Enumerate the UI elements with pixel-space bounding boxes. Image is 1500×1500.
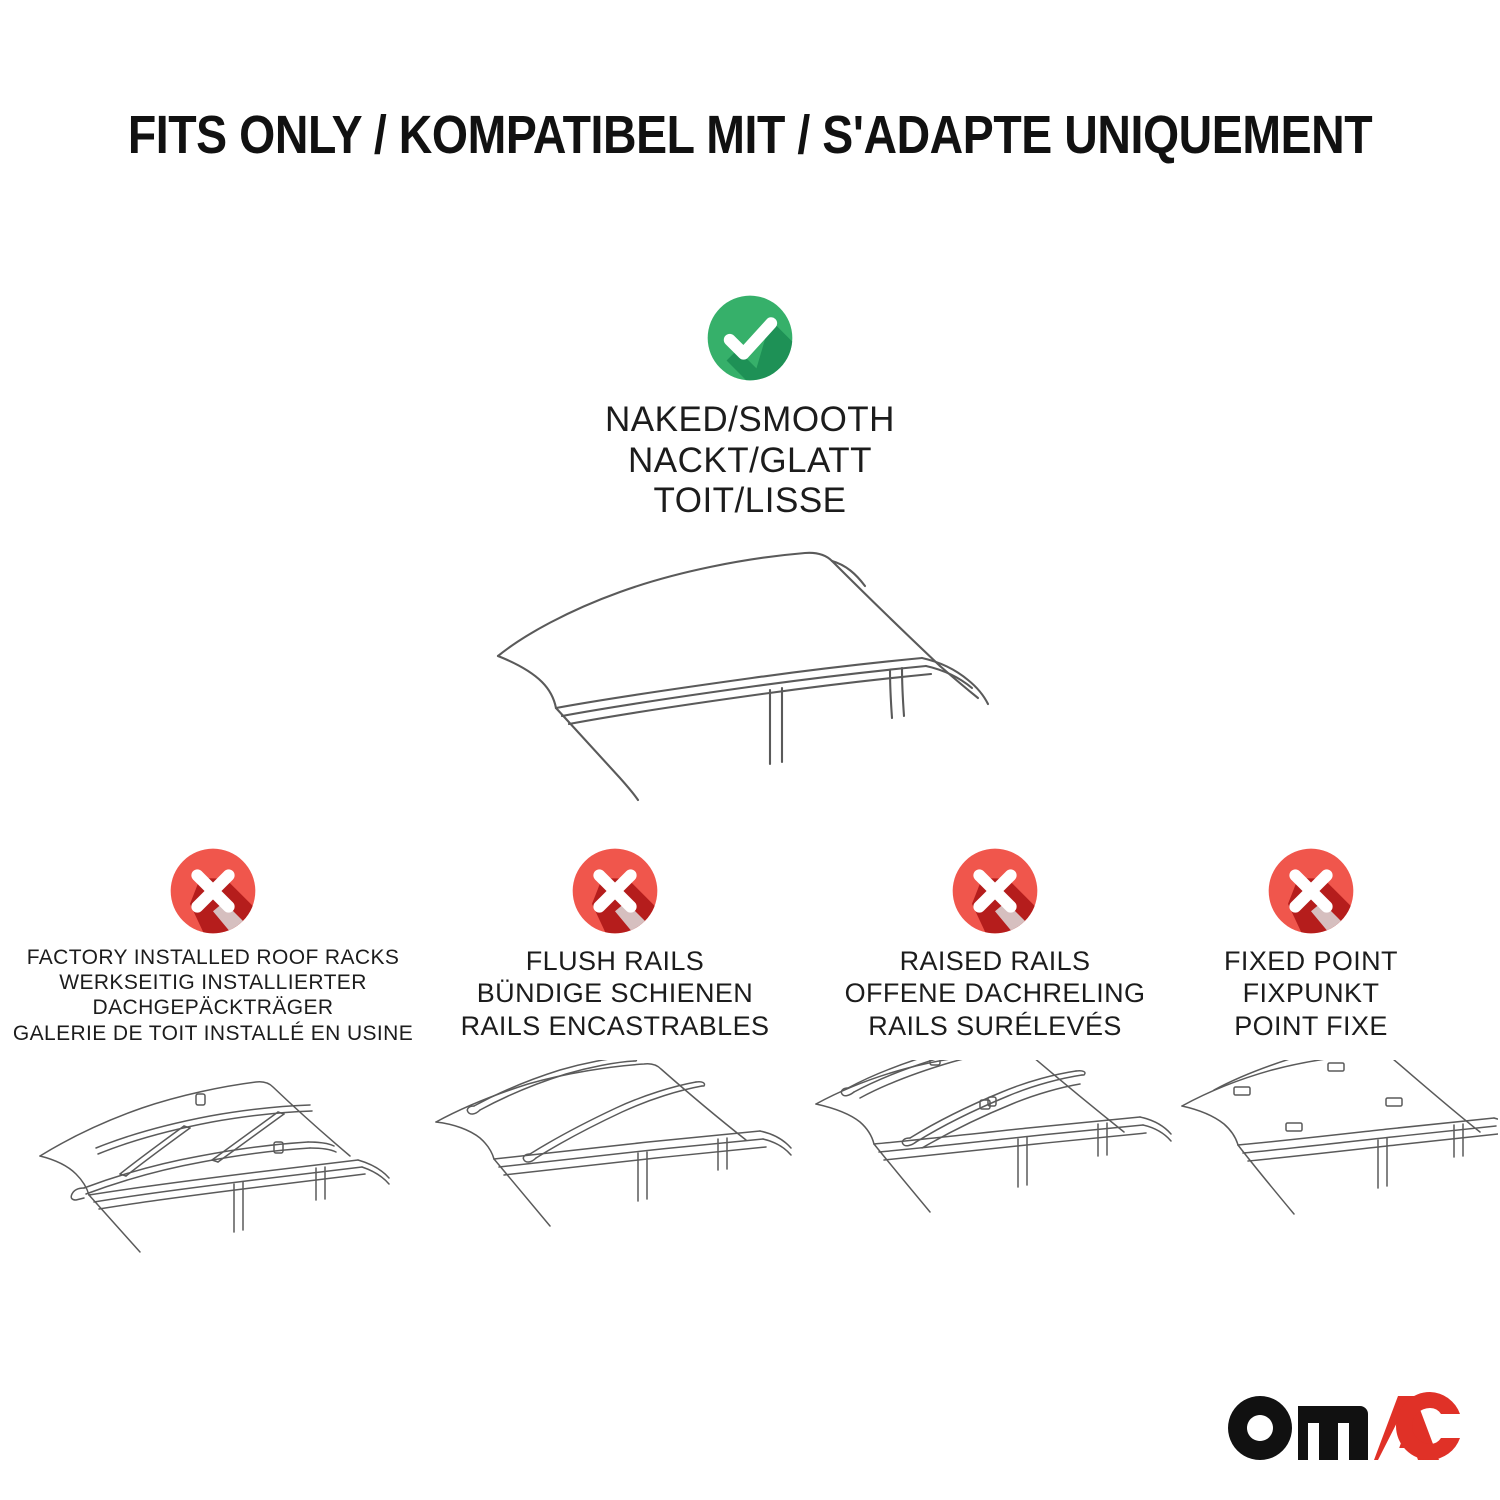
incompatible-column-raised-rails: RAISED RAILS OFFENE DACHRELING RAILS SUR… xyxy=(812,845,1178,1265)
compatible-label-de: NACKT/GLATT xyxy=(0,441,1500,482)
column-labels: RAISED RAILS OFFENE DACHRELING RAILS SUR… xyxy=(812,945,1178,1042)
column-label-fr: POINT FIXE xyxy=(1178,1010,1444,1042)
omac-logo xyxy=(1224,1392,1460,1466)
check-icon-container xyxy=(0,292,1500,388)
column-label-de-1: WERKSEITIG INSTALLIERTER xyxy=(10,970,416,995)
column-label-en: RAISED RAILS xyxy=(812,945,1178,977)
column-labels: FACTORY INSTALLED ROOF RACKS WERKSEITIG … xyxy=(10,945,416,1046)
incompatible-column-flush-rails: FLUSH RAILS BÜNDIGE SCHIENEN RAILS ENCAS… xyxy=(432,845,798,1265)
cross-icon-container xyxy=(812,845,1178,945)
car-roof-fixed-point-illustration xyxy=(1178,1060,1444,1265)
cross-circle-icon xyxy=(1265,845,1357,937)
column-label-en: FACTORY INSTALLED ROOF RACKS xyxy=(10,945,416,970)
car-roof-flush-rails-illustration xyxy=(432,1060,798,1265)
column-label-fr: GALERIE DE TOIT INSTALLÉ EN USINE xyxy=(10,1021,416,1046)
column-label-fr: RAILS ENCASTRABLES xyxy=(432,1010,798,1042)
car-roof-naked-smooth-illustration xyxy=(0,538,1500,833)
incompatible-section: FACTORY INSTALLED ROOF RACKS WERKSEITIG … xyxy=(0,845,1500,1315)
compatible-section: NAKED/SMOOTH NACKT/GLATT TOIT/LISSE xyxy=(0,292,1500,833)
logo-letter-m xyxy=(1298,1406,1368,1460)
car-roof-factory-roof-racks-illustration xyxy=(10,1064,416,1269)
cross-circle-icon xyxy=(569,845,661,937)
column-labels: FLUSH RAILS BÜNDIGE SCHIENEN RAILS ENCAS… xyxy=(432,945,798,1042)
column-label-de: OFFENE DACHRELING xyxy=(812,977,1178,1009)
column-label-en: FIXED POINT xyxy=(1178,945,1444,977)
column-label-fr: RAILS SURÉLEVÉS xyxy=(812,1010,1178,1042)
cross-icon-container xyxy=(10,845,416,945)
column-labels: FIXED POINT FIXPUNKT POINT FIXE xyxy=(1178,945,1444,1042)
page-title: FITS ONLY / KOMPATIBEL MIT / S'ADAPTE UN… xyxy=(105,104,1395,166)
column-label-de: BÜNDIGE SCHIENEN xyxy=(432,977,798,1009)
column-label-en: FLUSH RAILS xyxy=(432,945,798,977)
compatible-label-en: NAKED/SMOOTH xyxy=(0,400,1500,441)
check-circle-icon xyxy=(704,292,796,384)
column-label-de-2: DACHGEPÄCKTRÄGER xyxy=(10,995,416,1020)
car-roof-raised-rails-illustration xyxy=(812,1060,1178,1265)
incompatible-column-fixed-point: FIXED POINT FIXPUNKT POINT FIXE xyxy=(1178,845,1444,1265)
cross-icon-container xyxy=(432,845,798,945)
cross-circle-icon xyxy=(167,845,259,937)
compatible-labels: NAKED/SMOOTH NACKT/GLATT TOIT/LISSE xyxy=(0,400,1500,522)
compatible-label-fr: TOIT/LISSE xyxy=(0,481,1500,522)
incompatible-column-factory-roof-racks: FACTORY INSTALLED ROOF RACKS WERKSEITIG … xyxy=(10,845,416,1269)
cross-icon-container xyxy=(1178,845,1444,945)
cross-circle-icon xyxy=(949,845,1041,937)
logo-letter-o xyxy=(1228,1396,1292,1460)
column-label-de: FIXPUNKT xyxy=(1178,977,1444,1009)
